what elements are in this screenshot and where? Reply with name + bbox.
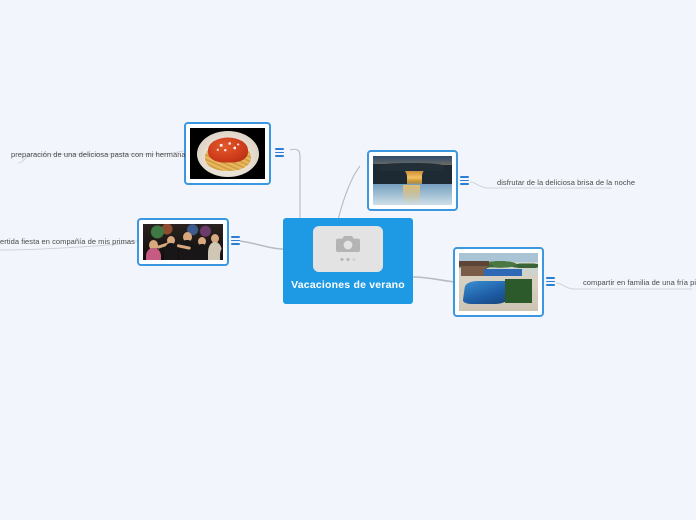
connector-to-piscina <box>413 277 455 282</box>
hamburger-menu-icon-fiesta[interactable] <box>231 236 240 245</box>
node-piscina-label: compartir en familia de una fría piscina <box>583 278 696 287</box>
connector-to-fiesta <box>240 241 283 249</box>
hamburger-menu-icon-brisa[interactable] <box>460 176 469 185</box>
hamburger-menu-icon-pasta[interactable] <box>275 148 284 157</box>
node-fiesta-label: ertida fiesta en compañía de mis primas <box>0 237 135 246</box>
node-fiesta[interactable] <box>137 218 229 266</box>
node-brisa[interactable] <box>367 150 458 211</box>
node-pasta-label: preparación de una deliciosa pasta con m… <box>11 150 186 159</box>
center-node[interactable]: Vacaciones de verano <box>283 218 413 304</box>
node-pasta[interactable] <box>184 122 271 185</box>
connector-to-pasta-tip <box>290 149 300 156</box>
mindmap-canvas: Vacaciones de verano preparación de una … <box>0 0 696 520</box>
node-fiesta-image <box>143 224 223 260</box>
node-brisa-image <box>373 156 452 205</box>
center-thumbnail-placeholder[interactable] <box>313 226 383 272</box>
thumbnail-dots <box>341 258 356 261</box>
node-piscina[interactable] <box>453 247 544 317</box>
node-pasta-image <box>190 128 265 179</box>
connector-to-brisa <box>338 166 360 220</box>
node-piscina-image <box>459 253 538 311</box>
node-brisa-label: disfrutar de la deliciosa brisa de la no… <box>497 178 635 187</box>
hamburger-menu-icon-piscina[interactable] <box>546 277 555 286</box>
center-node-title: Vacaciones de verano <box>289 279 407 291</box>
camera-icon <box>335 234 361 259</box>
